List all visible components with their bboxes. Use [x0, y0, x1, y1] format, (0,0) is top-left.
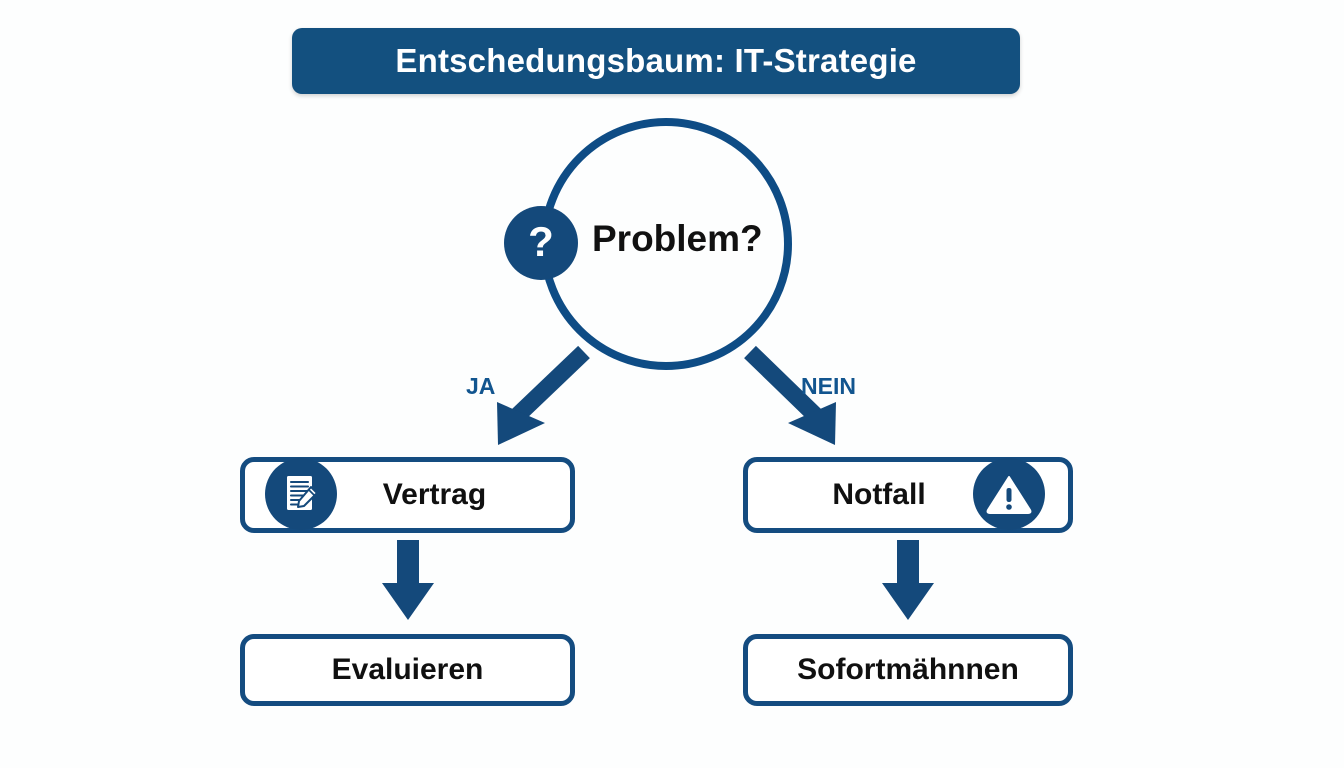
edge-arrow-vertrag-evaluieren — [382, 540, 434, 620]
question-mark-icon: ? — [504, 206, 578, 280]
node-evaluieren-label: Evaluieren — [332, 653, 484, 687]
node-sofortmassnahmen[interactable]: Sofortmähnnen — [743, 634, 1073, 706]
connector-layer — [0, 0, 1344, 768]
question-mark-glyph: ? — [528, 221, 554, 263]
decision-node[interactable]: ? Problem? — [540, 118, 792, 370]
contract-document-icon — [265, 458, 337, 530]
diagram-canvas: Entschedungsbaum: IT-Strategie ? Proble — [0, 0, 1344, 768]
edge-label-yes: JA — [466, 373, 495, 400]
warning-triangle-icon — [973, 458, 1045, 530]
node-evaluieren[interactable]: Evaluieren — [240, 634, 575, 706]
edge-label-no: NEIN — [801, 373, 856, 400]
node-vertrag-label: Vertrag — [329, 478, 486, 512]
node-sofortmassnahmen-label: Sofortmähnnen — [797, 653, 1019, 687]
node-notfall-label: Notfall — [832, 478, 983, 512]
edge-arrow-notfall-sofortmassnahmen — [882, 540, 934, 620]
decision-node-label: Problem? — [592, 218, 802, 260]
